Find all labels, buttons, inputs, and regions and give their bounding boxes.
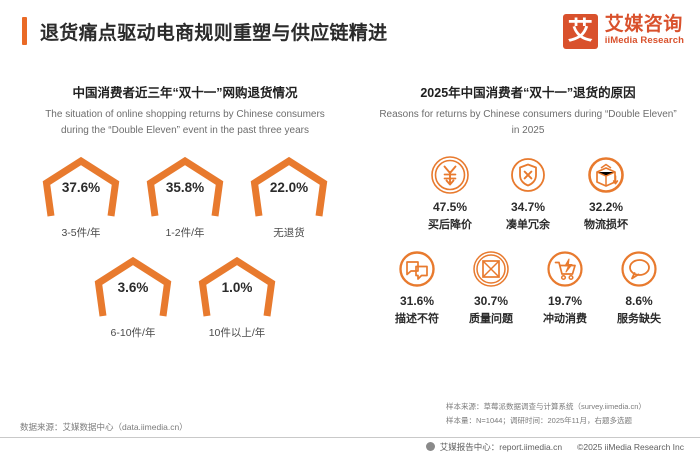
accent-bar — [22, 17, 27, 45]
logo-name-cn: 艾媒咨询 — [605, 15, 684, 35]
reason-item: 8.6% 服务缺失 — [602, 248, 676, 326]
reason-value: 19.7% — [548, 294, 582, 308]
page-header: 退货痛点驱动电商规则重塑与供应链精进 艾 艾媒咨询 iiMedia Resear… — [0, 0, 700, 62]
reason-value: 47.5% — [433, 200, 467, 214]
pentagon-label: 6-10件/年 — [111, 325, 156, 340]
report-center-link[interactable]: 艾媒报告中心：report.iimedia.cn — [440, 441, 562, 453]
reason-item: 47.5% 买后降价 — [411, 154, 489, 232]
left-panel-title: 中国消费者近三年“双十一”网购退货情况 — [18, 84, 352, 103]
shield-x-icon — [507, 154, 549, 196]
reason-item: 31.6% 描述不符 — [380, 248, 454, 326]
right-panel-title: 2025年中国消费者“双十一”退货的原因 — [368, 84, 688, 103]
pentagon-shape: 35.8% — [146, 156, 224, 222]
reason-label: 凑单冗余 — [506, 216, 550, 232]
data-source-text: 数据来源：艾媒数据中心（data.iimedia.cn） — [20, 421, 188, 433]
content-area: 中国消费者近三年“双十一”网购退货情况 The situation of onl… — [0, 62, 700, 392]
reason-value: 34.7% — [511, 200, 545, 214]
logo-text: 艾媒咨询 iiMedia Research — [605, 15, 684, 46]
pentagon-shape: 37.6% — [42, 156, 120, 222]
reason-label: 服务缺失 — [617, 310, 661, 326]
reason-item: 34.7% 凑单冗余 — [489, 154, 567, 232]
pentagon-label: 无退货 — [273, 225, 305, 240]
pentagon-shape: 22.0% — [250, 156, 328, 222]
pentagon-item: 37.6% 3-5件/年 — [29, 156, 133, 240]
pentagon-value: 3.6% — [94, 280, 172, 295]
pentagon-row-2: 3.6% 6-10件/年 1.0% 10件以上/年 — [18, 256, 352, 340]
right-panel-subtitle-line1: Reasons for returns by Chinese consumers… — [368, 107, 688, 124]
page-footer: 数据来源：艾媒数据中心（data.iimedia.cn） 艾媒报告中心：repo… — [0, 416, 700, 455]
left-panel-subtitle-line2: during the “Double Eleven” event in the … — [18, 123, 352, 140]
pentagon-item: 35.8% 1-2件/年 — [133, 156, 237, 240]
reason-value: 8.6% — [625, 294, 652, 308]
reason-label: 质量问题 — [469, 310, 513, 326]
defect-box-icon — [470, 248, 512, 290]
reason-row-2: 31.6% 描述不符 30.7% 质量问题 — [368, 248, 688, 326]
brand-logo: 艾 艾媒咨询 iiMedia Research — [563, 14, 684, 49]
reason-label: 描述不符 — [395, 310, 439, 326]
yuan-down-icon — [429, 154, 471, 196]
pentagon-value: 35.8% — [146, 180, 224, 195]
pentagon-item: 1.0% 10件以上/年 — [185, 256, 289, 340]
pentagon-value: 22.0% — [250, 180, 328, 195]
reason-value: 32.2% — [589, 200, 623, 214]
reason-row-1: 47.5% 买后降价 34.7% 凑单冗余 — [368, 154, 688, 232]
speech-bubble-icon — [618, 248, 660, 290]
pentagon-value: 37.6% — [42, 180, 120, 195]
reason-item: 30.7% 质量问题 — [454, 248, 528, 326]
reason-item: 19.7% 冲动消费 — [528, 248, 602, 326]
copyright-text: ©2025 iiMedia Research Inc — [577, 442, 684, 452]
left-panel-subtitle-line1: The situation of online shopping returns… — [18, 107, 352, 124]
reason-value: 31.6% — [400, 294, 434, 308]
right-panel-subtitle-line2: in 2025 — [368, 123, 688, 140]
logo-mark-icon: 艾 — [563, 14, 598, 49]
cart-bolt-icon — [544, 248, 586, 290]
broken-box-icon — [585, 154, 627, 196]
reason-label: 物流损坏 — [584, 216, 628, 232]
right-chart-panel: 2025年中国消费者“双十一”退货的原因 Reasons for returns… — [362, 84, 700, 392]
globe-icon — [426, 442, 435, 451]
footer-report-row: 艾媒报告中心：report.iimedia.cn ©2025 iiMedia R… — [0, 438, 700, 455]
reason-value: 30.7% — [474, 294, 508, 308]
footer-source-row: 数据来源：艾媒数据中心（data.iimedia.cn） — [0, 416, 700, 437]
pentagon-label: 3-5件/年 — [61, 225, 100, 240]
reason-item: 32.2% 物流损坏 — [567, 154, 645, 232]
pentagon-item: 22.0% 无退货 — [237, 156, 341, 240]
pentagon-label: 10件以上/年 — [209, 325, 266, 340]
page-title: 退货痛点驱动电商规则重塑与供应链精进 — [40, 18, 387, 45]
pentagon-row-1: 37.6% 3-5件/年 35.8% 1-2件/年 22 — [18, 156, 352, 240]
reason-label: 冲动消费 — [543, 310, 587, 326]
left-chart-panel: 中国消费者近三年“双十一”网购退货情况 The situation of onl… — [0, 84, 362, 392]
logo-name-en: iiMedia Research — [605, 35, 684, 46]
pentagon-label: 1-2件/年 — [165, 225, 204, 240]
title-block: 退货痛点驱动电商规则重塑与供应链精进 — [22, 17, 563, 45]
sample-source-note: 样本来源：草莓派数据调查与计算系统（survey.iimedia.cn） — [446, 400, 686, 414]
pentagon-value: 1.0% — [198, 280, 276, 295]
pentagon-item: 3.6% 6-10件/年 — [81, 256, 185, 340]
pentagon-shape: 3.6% — [94, 256, 172, 322]
pentagon-shape: 1.0% — [198, 256, 276, 322]
mismatch-speech-icon — [396, 248, 438, 290]
reason-label: 买后降价 — [428, 216, 472, 232]
